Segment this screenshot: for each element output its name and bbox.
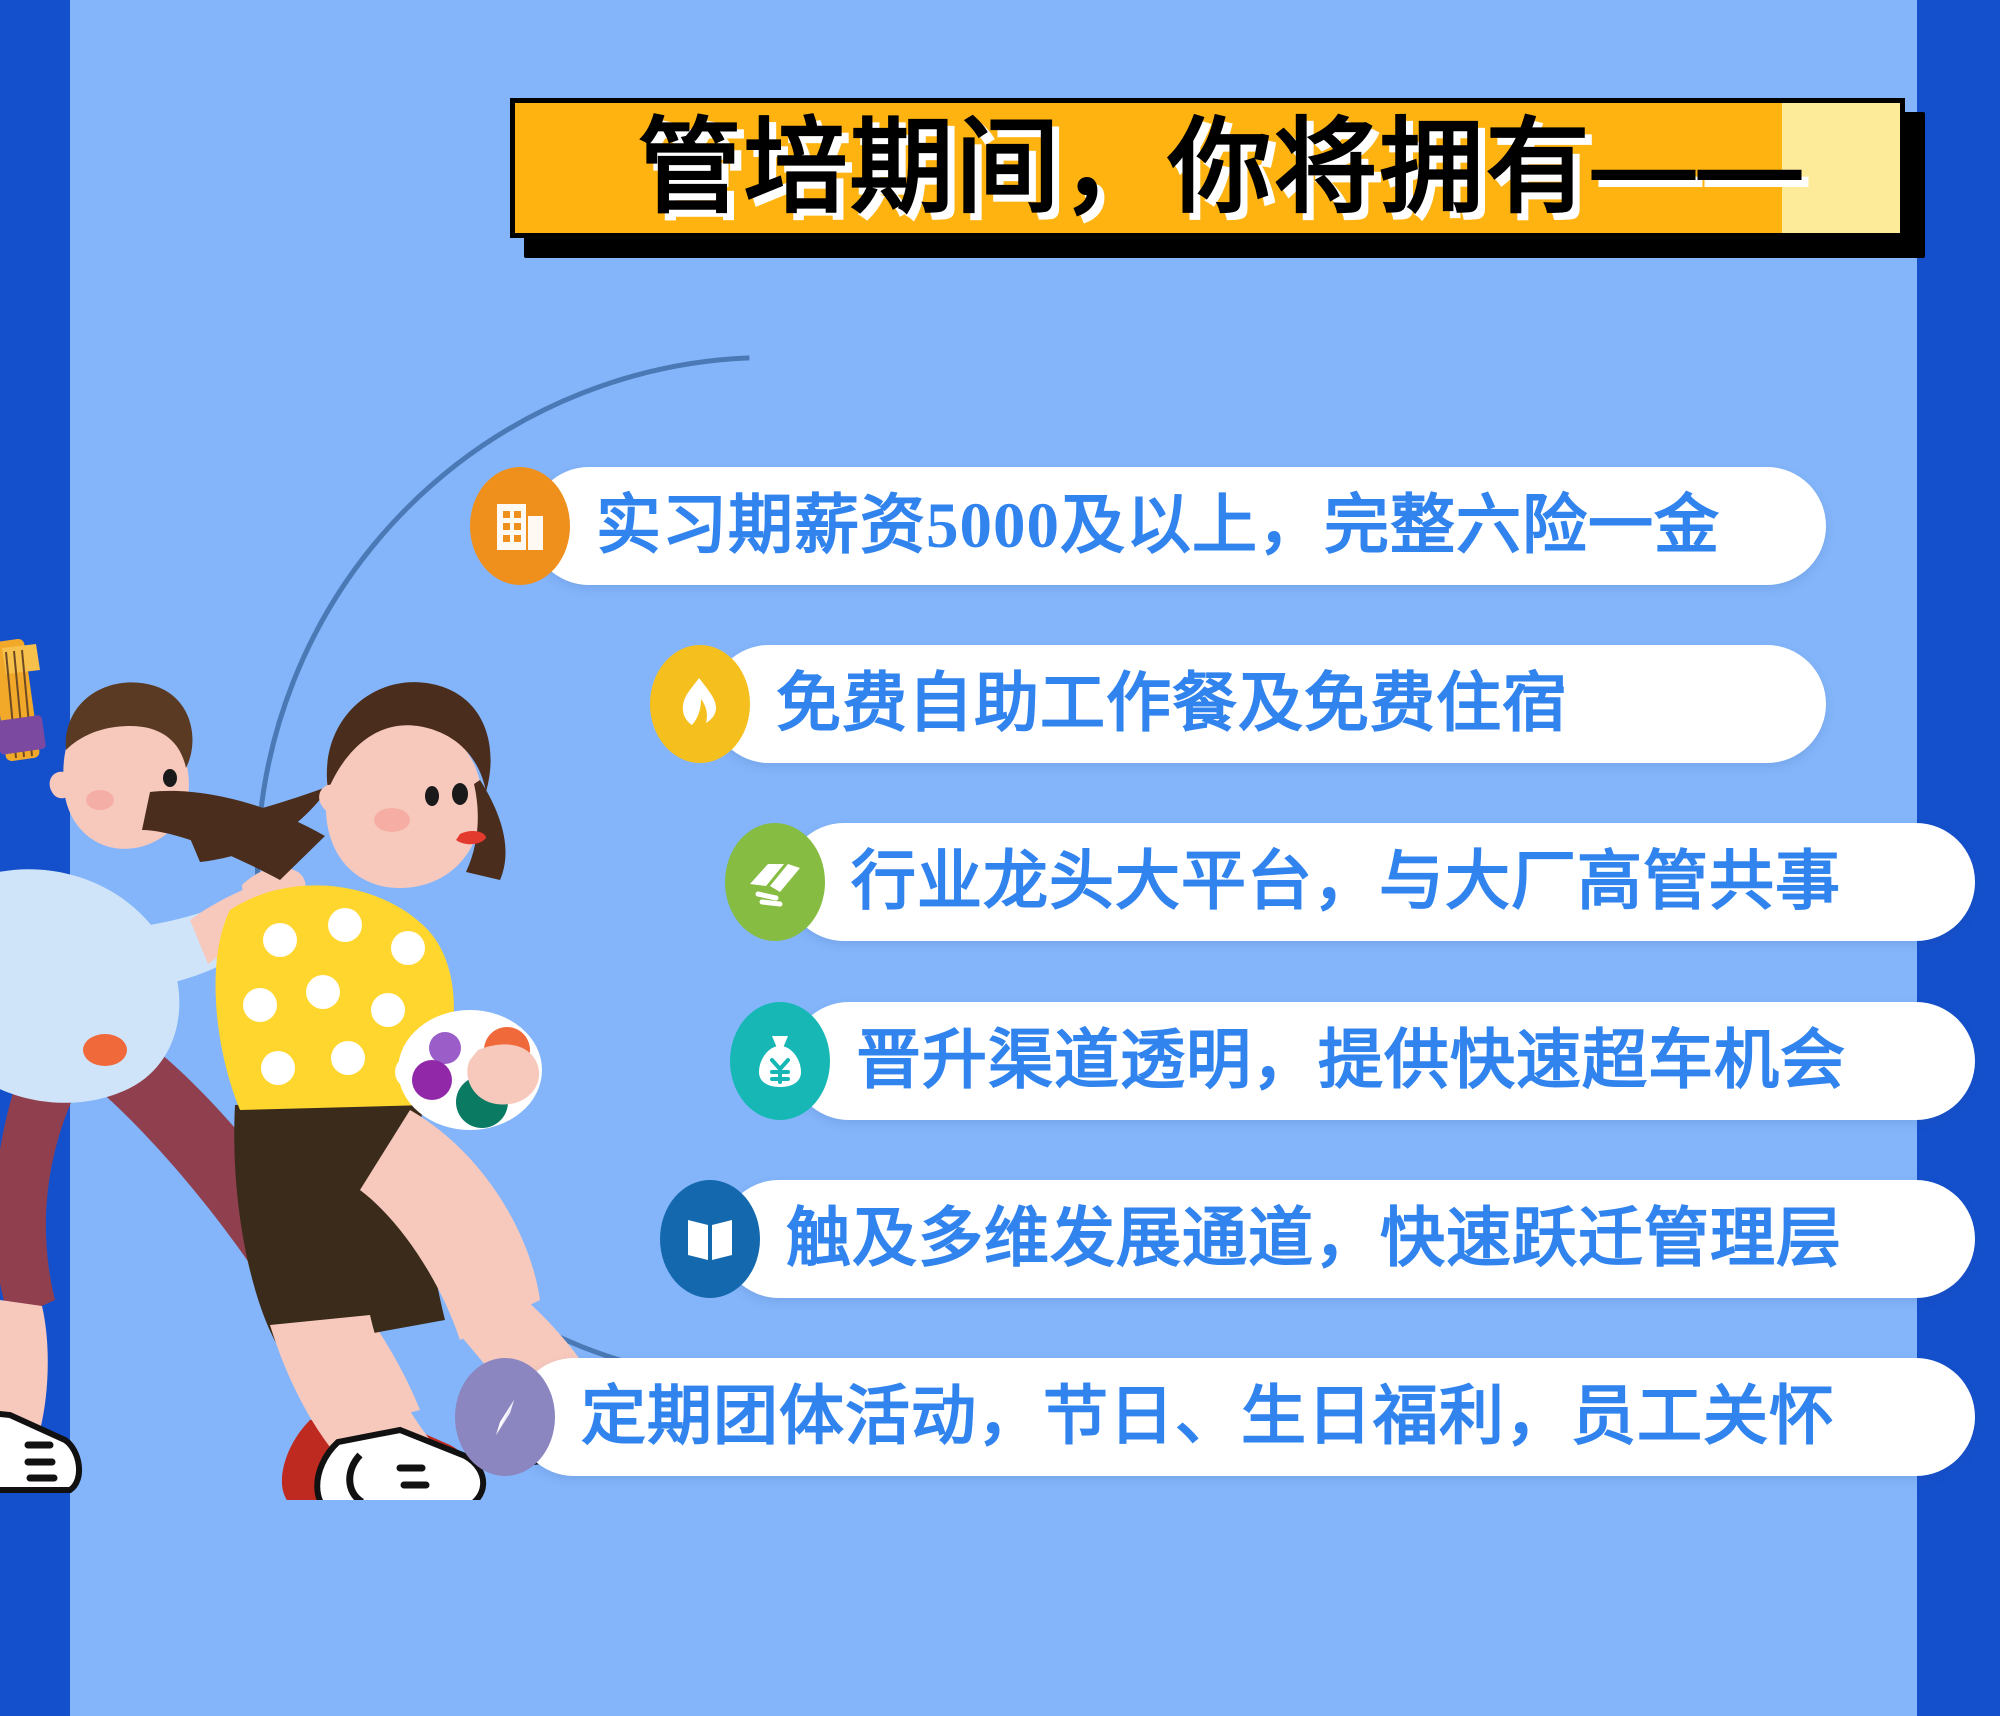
benefit-label-2: 免费自助工作餐及免费住宿	[750, 672, 1614, 737]
benefit-row-3[interactable]: 行业龙头大平台，与大厂高管共事	[725, 823, 1887, 941]
benefit-label-1: 实习期薪资5000及以上，完整六险一金	[570, 494, 1766, 559]
benefits-list: 实习期薪资5000及以上，完整六险一金 免费自助工作餐及免费住宿	[0, 0, 2000, 1716]
arrow-up-icon	[650, 645, 750, 763]
benefit-row-1[interactable]: 实习期薪资5000及以上，完整六险一金	[470, 467, 1766, 585]
book-icon	[660, 1180, 760, 1298]
banner-body: 管培期间，你将拥有——	[510, 98, 1905, 238]
poster-canvas: 管培期间，你将拥有—— 实习期薪资5000及以上，完整六险一金	[0, 0, 2000, 1716]
building-icon	[470, 467, 570, 585]
benefit-row-4[interactable]: 晋升渠道透明，提供快速超车机会	[730, 1002, 1892, 1120]
benefit-label-6: 定期团体活动，节日、生日福利，员工关怀	[555, 1385, 1881, 1450]
benefit-row-2[interactable]: 免费自助工作餐及免费住宿	[650, 645, 1614, 763]
handshake-icon	[725, 823, 825, 941]
benefit-row-5[interactable]: 触及多维发展通道，快速跃迁管理层	[660, 1180, 1888, 1298]
benefit-label-3: 行业龙头大平台，与大厂高管共事	[825, 850, 1887, 915]
compass-icon	[455, 1358, 555, 1476]
benefit-label-4: 晋升渠道透明，提供快速超车机会	[830, 1029, 1892, 1094]
money-bag-icon	[730, 1002, 830, 1120]
page-title: 管培期间，你将拥有——	[515, 116, 1900, 220]
benefit-label-5: 触及多维发展通道，快速跃迁管理层	[760, 1207, 1888, 1272]
benefit-row-6[interactable]: 定期团体活动，节日、生日福利，员工关怀	[455, 1358, 1881, 1476]
